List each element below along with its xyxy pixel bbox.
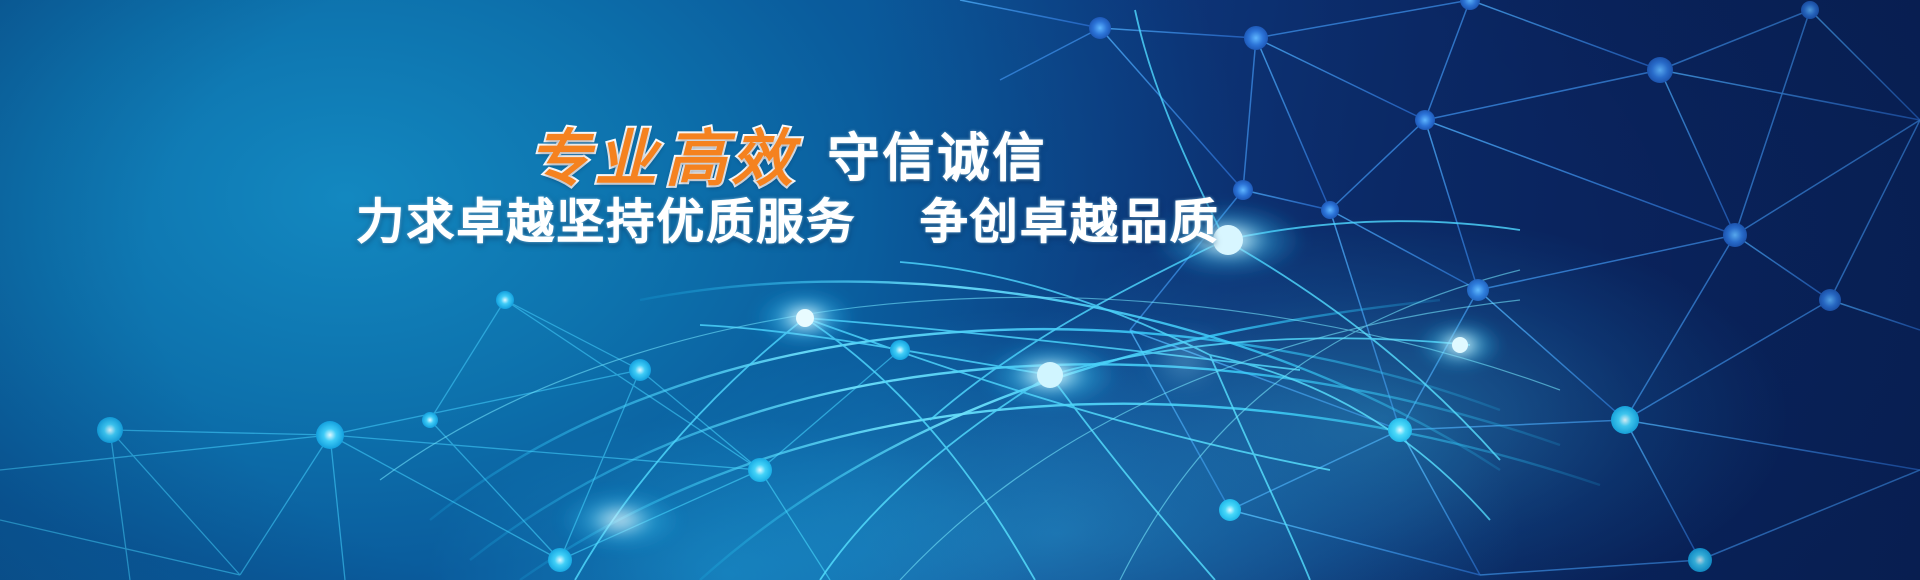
hero-banner: 专业 高效 守信诚信 力求卓越坚持优质服务 争创卓越品质 [0, 0, 1920, 580]
vignette-overlay [0, 0, 1920, 580]
